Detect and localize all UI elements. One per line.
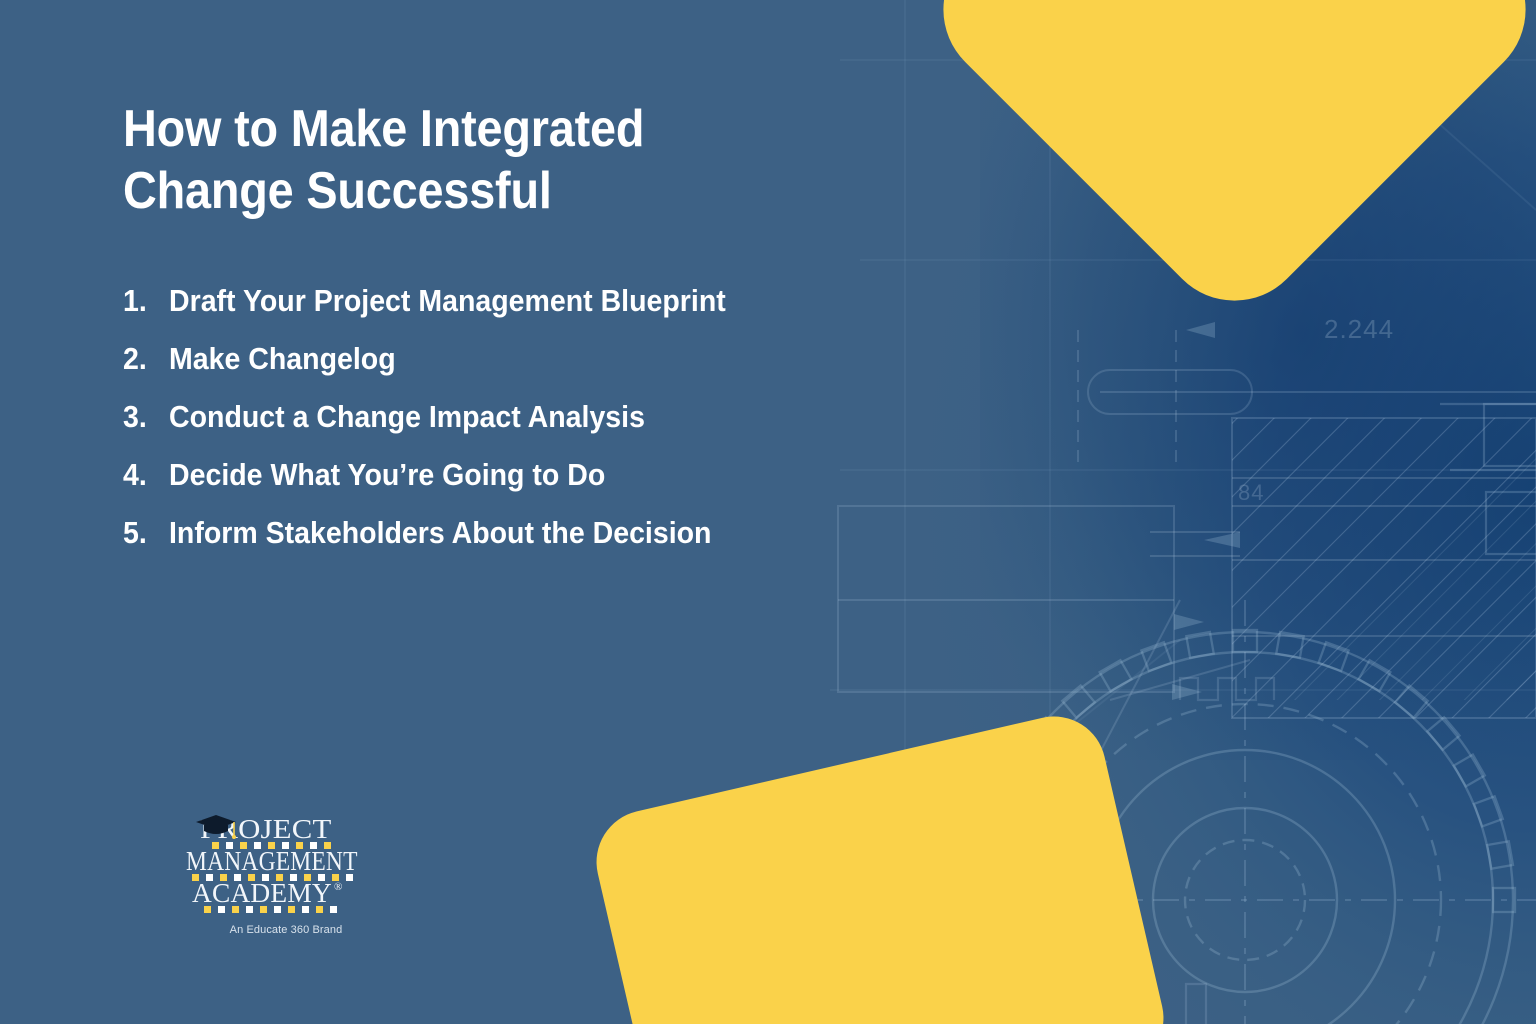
slide-content: How to Make Integrated Change Successful… — [0, 0, 1536, 1024]
list-item-number: 3. — [123, 388, 165, 446]
list-item-number: 1. — [123, 272, 165, 330]
logo-tagline: An Educate 360 Brand — [186, 924, 386, 936]
steps-list: 1. Draft Your Project Management Bluepri… — [123, 272, 774, 562]
list-item: 4. Decide What You’re Going to Do — [123, 446, 774, 504]
list-item: 5. Inform Stakeholders About the Decisio… — [123, 504, 774, 562]
list-item-label: Decide What You’re Going to Do — [169, 446, 605, 504]
logo-word-academy: ACADEMY — [192, 878, 332, 908]
list-item: 1. Draft Your Project Management Bluepri… — [123, 272, 774, 330]
list-item-number: 4. — [123, 446, 165, 504]
list-item-label: Conduct a Change Impact Analysis — [169, 388, 645, 446]
list-item: 2. Make Changelog — [123, 330, 774, 388]
registered-mark: ® — [334, 881, 342, 893]
slide-canvas: 2.244 84 — [0, 0, 1536, 1024]
list-item-number: 5. — [123, 504, 165, 562]
logo-artwork: PROJECT MANAGEMENT ACADEMY ® — [186, 812, 386, 922]
logo-dot-rule-1 — [212, 842, 331, 849]
list-item-label: Inform Stakeholders About the Decision — [169, 504, 711, 562]
list-item-label: Draft Your Project Management Blueprint — [169, 272, 726, 330]
list-item: 3. Conduct a Change Impact Analysis — [123, 388, 774, 446]
page-title: How to Make Integrated Change Successful — [123, 98, 735, 222]
list-item-label: Make Changelog — [169, 330, 396, 388]
logo-word-management: MANAGEMENT — [186, 847, 358, 877]
list-item-number: 2. — [123, 330, 165, 388]
brand-logo: PROJECT MANAGEMENT ACADEMY ® — [186, 812, 386, 936]
